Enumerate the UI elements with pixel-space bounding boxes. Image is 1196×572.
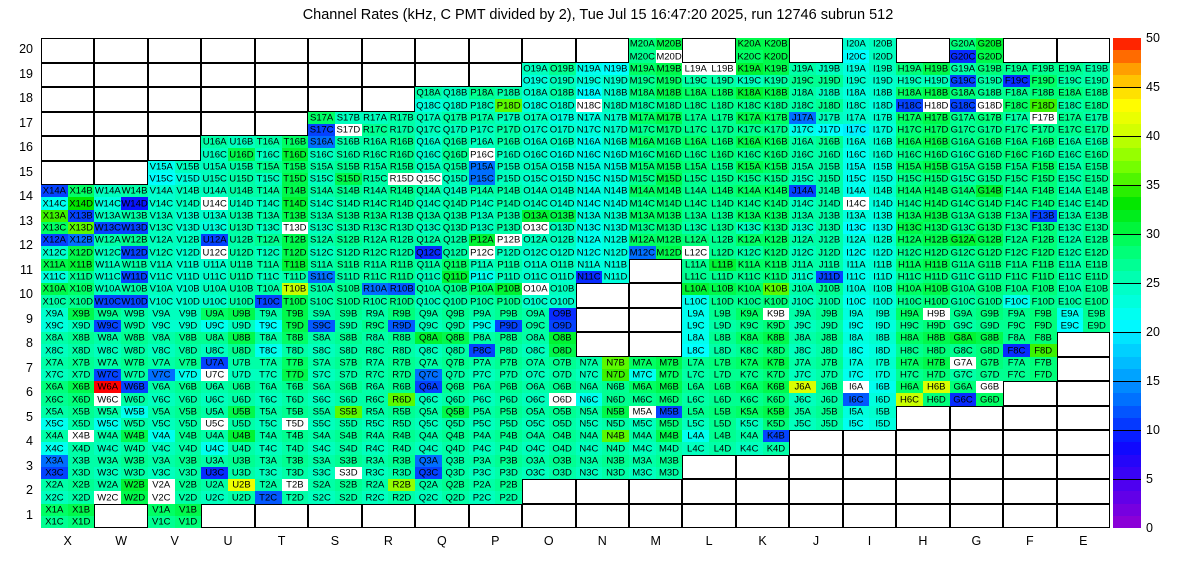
x-axis-tick-labels: XWVUTSRQPONMLKJIHGFE (41, 534, 1110, 558)
heatmap-subcell: I7D (869, 369, 896, 381)
heatmap-subcell: O19B (549, 63, 576, 75)
heatmap-plot-area: M20AM20BM20CM20DK20AK20BK20CK20DI20AI20B… (41, 38, 1110, 528)
heatmap-subcell: P7D (495, 369, 522, 381)
heatmap-subcell: Q2D (442, 491, 469, 503)
heatmap-subcell: L15B (709, 161, 736, 173)
heatmap-cell: S13AS13BS13CS13D (308, 210, 361, 235)
heatmap-cell (201, 38, 254, 63)
heatmap-subcell: E11D (1083, 271, 1110, 283)
heatmap-cell (896, 430, 949, 455)
heatmap-subcell: T7C (255, 369, 282, 381)
heatmap-subcell: X3A (41, 455, 68, 467)
heatmap-subcell: P14C (469, 197, 496, 209)
heatmap-subcell: M6A (629, 381, 656, 393)
heatmap-subcell: K18B (763, 87, 790, 99)
heatmap-subcell: H18D (923, 99, 950, 111)
heatmap-cell: J5AJ5BJ5CJ5D (789, 406, 842, 431)
heatmap-subcell: J6D (816, 393, 843, 405)
heatmap-cell (1057, 430, 1110, 455)
heatmap-subcell: J12D (816, 246, 843, 258)
x-tick-label: N (576, 534, 629, 558)
heatmap-subcell: U13D (228, 222, 255, 234)
heatmap-cell: W7AW7BW7CW7D (94, 357, 147, 382)
heatmap-cell (843, 504, 896, 529)
heatmap-subcell: L15A (682, 161, 709, 173)
heatmap-subcell: W14C (94, 197, 121, 209)
heatmap-cell: M12AM12BM12CM12D (629, 234, 682, 259)
heatmap-subcell: U14D (228, 197, 255, 209)
heatmap-subcell: M12C (629, 246, 656, 258)
heatmap-subcell: O14C (522, 197, 549, 209)
heatmap-subcell: O10B (549, 283, 576, 295)
heatmap-subcell: U5D (228, 418, 255, 430)
heatmap-subcell: K18A (736, 87, 763, 99)
heatmap-cell: J10AJ10BJ10CJ10D (789, 283, 842, 308)
heatmap-subcell: G14C (950, 197, 977, 209)
heatmap-cell: W11AW11BW11CW11D (94, 259, 147, 284)
heatmap-subcell: H8A (896, 332, 923, 344)
heatmap-cell: K13AK13BK13CK13D (736, 210, 789, 235)
heatmap-subcell: K12A (736, 234, 763, 246)
heatmap-subcell: X11D (68, 271, 95, 283)
heatmap-cell: Q13AQ13BQ13CQ13D (415, 210, 468, 235)
heatmap-cell: H17AH17BH17CH17D (896, 112, 949, 137)
heatmap-subcell: N17C (576, 124, 603, 136)
heatmap-cell: K11AK11BK11CK11D (736, 259, 789, 284)
heatmap-subcell: S5C (308, 418, 335, 430)
heatmap-subcell: Q7D (442, 369, 469, 381)
heatmap-subcell: K15D (763, 173, 790, 185)
heatmap-subcell: R14C (362, 197, 389, 209)
heatmap-subcell: X1C (41, 516, 68, 528)
heatmap-subcell: N6C (576, 393, 603, 405)
heatmap-subcell: N14C (576, 197, 603, 209)
heatmap-subcell: Q6C (415, 393, 442, 405)
heatmap-subcell: K13D (763, 222, 790, 234)
heatmap-subcell: G13C (950, 222, 977, 234)
heatmap-subcell: T2D (282, 491, 309, 503)
heatmap-subcell: J9A (789, 308, 816, 320)
heatmap-subcell: K9B (763, 308, 790, 320)
heatmap-subcell: F17D (1030, 124, 1057, 136)
heatmap-subcell: E12C (1057, 246, 1084, 258)
heatmap-cell: H13AH13BH13CH13D (896, 210, 949, 235)
heatmap-subcell: X5D (68, 418, 95, 430)
heatmap-subcell: T6A (255, 381, 282, 393)
heatmap-subcell: X14D (68, 197, 95, 209)
heatmap-cell: E14AE14BE14CE14D (1057, 185, 1110, 210)
heatmap-cell (362, 87, 415, 112)
heatmap-subcell: V12C (148, 246, 175, 258)
heatmap-cell (362, 38, 415, 63)
heatmap-subcell: E17C (1057, 124, 1084, 136)
heatmap-cell (843, 455, 896, 480)
heatmap-subcell: Q6B (442, 381, 469, 393)
heatmap-subcell: N6B (602, 381, 629, 393)
heatmap-subcell: E11C (1057, 271, 1084, 283)
heatmap-subcell: G16B (976, 136, 1003, 148)
heatmap-cell: N6AN6BN6CN6D (576, 381, 629, 406)
heatmap-grid: M20AM20BM20CM20DK20AK20BK20CK20DI20AI20B… (41, 38, 1110, 528)
heatmap-subcell: X8D (68, 344, 95, 356)
heatmap-subcell: Q13A (415, 210, 442, 222)
heatmap-subcell: F7A (1003, 357, 1030, 369)
heatmap-subcell: U8C (201, 344, 228, 356)
heatmap-cell: S16AS16BS16CS16D (308, 136, 361, 161)
heatmap-cell: O10AO10BO10CO10D (522, 283, 575, 308)
heatmap-subcell: W10A (94, 283, 121, 295)
y-tick-label: 11 (0, 263, 33, 277)
heatmap-cell: G10AG10BG10CG10D (950, 283, 1003, 308)
heatmap-subcell: L12A (682, 234, 709, 246)
heatmap-subcell: R17D (388, 124, 415, 136)
heatmap-subcell: P12C (469, 246, 496, 258)
heatmap-subcell: K4B (763, 430, 790, 442)
heatmap-subcell: I9D (869, 320, 896, 332)
heatmap-subcell: Q5B (442, 406, 469, 418)
heatmap-cell: E19AE19BE19CE19D (1057, 63, 1110, 88)
heatmap-subcell: M13A (629, 210, 656, 222)
heatmap-subcell: V10B (175, 283, 202, 295)
heatmap-subcell: L19C (682, 75, 709, 87)
heatmap-subcell: O8B (549, 332, 576, 344)
heatmap-subcell: T9C (255, 320, 282, 332)
heatmap-cell (522, 38, 575, 63)
heatmap-subcell: U12B (228, 234, 255, 246)
heatmap-subcell: I11A (843, 259, 870, 271)
heatmap-subcell: L8C (682, 344, 709, 356)
heatmap-subcell: Q12C (415, 246, 442, 258)
heatmap-cell: N5AN5BN5CN5D (576, 406, 629, 431)
x-tick-label: W (94, 534, 147, 558)
heatmap-subcell: U8D (228, 344, 255, 356)
heatmap-subcell: K10B (763, 283, 790, 295)
heatmap-subcell: S9D (335, 320, 362, 332)
heatmap-subcell: T9B (282, 308, 309, 320)
heatmap-subcell: R7A (362, 357, 389, 369)
heatmap-subcell: V2D (175, 491, 202, 503)
heatmap-subcell: W14B (121, 185, 148, 197)
heatmap-subcell: R11D (388, 271, 415, 283)
heatmap-subcell: J13D (816, 222, 843, 234)
heatmap-subcell: J10C (789, 295, 816, 307)
heatmap-cell: O17AO17BO17CO17D (522, 112, 575, 137)
heatmap-subcell: K6A (736, 381, 763, 393)
heatmap-cell: J14AJ14BJ14CJ14D (789, 185, 842, 210)
heatmap-cell: Q18AQ18BQ18CQ18D (415, 87, 468, 112)
heatmap-subcell: S7C (308, 369, 335, 381)
heatmap-subcell: L14C (682, 197, 709, 209)
heatmap-subcell: L13A (682, 210, 709, 222)
heatmap-subcell: S7D (335, 369, 362, 381)
heatmap-subcell: K16C (736, 148, 763, 160)
heatmap-subcell: O6C (522, 393, 549, 405)
heatmap-subcell: Q7B (442, 357, 469, 369)
heatmap-subcell: M15C (629, 173, 656, 185)
heatmap-subcell: E18B (1083, 87, 1110, 99)
heatmap-subcell: H7C (896, 369, 923, 381)
y-tick-label: 4 (0, 434, 33, 448)
heatmap-cell (148, 136, 201, 161)
heatmap-cell (469, 504, 522, 529)
y-tick-label: 9 (0, 312, 33, 326)
heatmap-subcell: I20A (843, 38, 870, 50)
heatmap-subcell: E18D (1083, 99, 1110, 111)
y-tick-label: 18 (0, 91, 33, 105)
heatmap-subcell: R13C (362, 222, 389, 234)
heatmap-subcell: R8A (362, 332, 389, 344)
heatmap-subcell: R16A (362, 136, 389, 148)
heatmap-subcell: K7D (763, 369, 790, 381)
heatmap-subcell: R12A (362, 234, 389, 246)
heatmap-subcell: S16D (335, 148, 362, 160)
heatmap-subcell: F17A (1003, 112, 1030, 124)
heatmap-subcell: G10A (950, 283, 977, 295)
heatmap-cell (682, 455, 735, 480)
heatmap-subcell: N13B (602, 210, 629, 222)
heatmap-subcell: V2C (148, 491, 175, 503)
heatmap-subcell: R5D (388, 418, 415, 430)
heatmap-cell: R7AR7BR7CR7D (362, 357, 415, 382)
heatmap-subcell: J17D (816, 124, 843, 136)
x-tick-label: O (522, 534, 575, 558)
heatmap-subcell: F7C (1003, 369, 1030, 381)
colorbar-swatch (1113, 234, 1141, 246)
heatmap-subcell: R6A (362, 381, 389, 393)
y-tick-label: 7 (0, 361, 33, 375)
heatmap-cell: E13AE13BE13CE13D (1057, 210, 1110, 235)
heatmap-cell (950, 455, 1003, 480)
heatmap-subcell: T2C (255, 491, 282, 503)
heatmap-cell: I5AI5BI5CI5D (843, 406, 896, 431)
heatmap-cell: L16AL16BL16CL16D (682, 136, 735, 161)
heatmap-cell (629, 332, 682, 357)
heatmap-subcell: V9A (148, 308, 175, 320)
heatmap-subcell: K19D (763, 75, 790, 87)
heatmap-cell: M19AM19BM19CM19D (629, 63, 682, 88)
heatmap-subcell: X11B (68, 259, 95, 271)
colorbar-swatch (1113, 320, 1141, 332)
heatmap-subcell: R6C (362, 393, 389, 405)
heatmap-subcell: L6C (682, 393, 709, 405)
heatmap-cell: I9AI9BI9CI9D (843, 308, 896, 333)
heatmap-subcell: W12B (121, 234, 148, 246)
heatmap-cell: H11AH11BH11CH11D (896, 259, 949, 284)
heatmap-subcell: K8D (763, 344, 790, 356)
heatmap-subcell: L12B (709, 234, 736, 246)
heatmap-subcell: H8B (923, 332, 950, 344)
heatmap-subcell: I16D (869, 148, 896, 160)
heatmap-subcell: G15A (950, 161, 977, 173)
heatmap-subcell: G10C (950, 295, 977, 307)
heatmap-subcell: H18C (896, 99, 923, 111)
heatmap-subcell: V5C (148, 418, 175, 430)
heatmap-subcell: F12A (1003, 234, 1030, 246)
heatmap-cell: U7AU7BU7CU7D (201, 357, 254, 382)
heatmap-cell: J19AJ19BJ19CJ19D (789, 63, 842, 88)
heatmap-cell (255, 504, 308, 529)
heatmap-subcell: N16D (602, 148, 629, 160)
heatmap-subcell: M14A (629, 185, 656, 197)
heatmap-subcell: L9B (709, 308, 736, 320)
heatmap-subcell: G20D (976, 50, 1003, 62)
heatmap-subcell: O13C (522, 222, 549, 234)
heatmap-cell (469, 38, 522, 63)
heatmap-subcell: P10A (469, 283, 496, 295)
heatmap-subcell: I12A (843, 234, 870, 246)
heatmap-cell (308, 63, 361, 88)
heatmap-subcell: Q11C (415, 271, 442, 283)
heatmap-subcell: O8D (549, 344, 576, 356)
heatmap-subcell: K16A (736, 136, 763, 148)
colorbar-swatch (1113, 148, 1141, 160)
heatmap-subcell: P18B (495, 87, 522, 99)
heatmap-subcell: S14A (308, 185, 335, 197)
heatmap-subcell: N3D (602, 467, 629, 479)
heatmap-subcell: T11A (255, 259, 282, 271)
heatmap-subcell: J19C (789, 75, 816, 87)
heatmap-subcell: Q9C (415, 320, 442, 332)
y-tick-label: 17 (0, 116, 33, 130)
heatmap-subcell: R5C (362, 418, 389, 430)
heatmap-subcell: T15A (255, 161, 282, 173)
heatmap-subcell: V9D (175, 320, 202, 332)
heatmap-subcell: W2A (94, 479, 121, 491)
x-tick-label: S (308, 534, 361, 558)
heatmap-subcell: Q10D (442, 295, 469, 307)
heatmap-subcell: H13B (923, 210, 950, 222)
heatmap-subcell: J15D (816, 173, 843, 185)
heatmap-cell: O14AO14BO14CO14D (522, 185, 575, 210)
heatmap-subcell: L13D (709, 222, 736, 234)
x-tick-label: F (1003, 534, 1056, 558)
heatmap-subcell: U5C (201, 418, 228, 430)
heatmap-subcell: T7B (282, 357, 309, 369)
heatmap-cell: T5AT5BT5CT5D (255, 406, 308, 431)
heatmap-subcell: W11D (121, 271, 148, 283)
heatmap-subcell: I8A (843, 332, 870, 344)
heatmap-subcell: O18D (549, 99, 576, 111)
heatmap-subcell: M5A (629, 406, 656, 418)
heatmap-subcell: E19C (1057, 75, 1084, 87)
heatmap-cell (1003, 406, 1056, 431)
heatmap-subcell: L8A (682, 332, 709, 344)
heatmap-subcell: R16B (388, 136, 415, 148)
heatmap-cell (41, 161, 94, 186)
heatmap-subcell: M17C (629, 124, 656, 136)
heatmap-subcell: O5C (522, 418, 549, 430)
heatmap-subcell: S6D (335, 393, 362, 405)
heatmap-subcell: G9B (976, 308, 1003, 320)
heatmap-cell: G8AG8BG8CG8D (950, 332, 1003, 357)
heatmap-subcell: O6B (549, 381, 576, 393)
heatmap-subcell: K19C (736, 75, 763, 87)
heatmap-subcell: S15C (308, 173, 335, 185)
heatmap-subcell: G12A (950, 234, 977, 246)
heatmap-subcell: F19A (1003, 63, 1030, 75)
heatmap-cell: P11AP11BP11CP11D (469, 259, 522, 284)
heatmap-subcell: N3B (602, 455, 629, 467)
heatmap-subcell: G6C (950, 393, 977, 405)
heatmap-subcell: L6D (709, 393, 736, 405)
heatmap-subcell: L17B (709, 112, 736, 124)
heatmap-subcell: I5C (843, 418, 870, 430)
heatmap-cell (1057, 332, 1110, 357)
heatmap-subcell: K4A (736, 430, 763, 442)
heatmap-subcell: L11D (709, 271, 736, 283)
heatmap-subcell: M5C (629, 418, 656, 430)
heatmap-subcell: I10C (843, 295, 870, 307)
heatmap-subcell: P7B (495, 357, 522, 369)
heatmap-cell: P15AP15BP15CP15D (469, 161, 522, 186)
heatmap-subcell: U11C (201, 271, 228, 283)
heatmap-subcell: Q2A (415, 479, 442, 491)
y-tick-label: 16 (0, 140, 33, 154)
heatmap-cell: P6AP6BP6CP6D (469, 381, 522, 406)
heatmap-subcell: X9D (68, 320, 95, 332)
heatmap-subcell: L16C (682, 148, 709, 160)
heatmap-subcell: G7A (950, 357, 977, 369)
heatmap-subcell: I19D (869, 75, 896, 87)
heatmap-subcell: T12D (282, 246, 309, 258)
heatmap-subcell: J18C (789, 99, 816, 111)
heatmap-subcell: K13C (736, 222, 763, 234)
heatmap-subcell: Q9B (442, 308, 469, 320)
heatmap-cell: T2AT2BT2CT2D (255, 479, 308, 504)
heatmap-cell (415, 38, 468, 63)
heatmap-subcell: Q10B (442, 283, 469, 295)
heatmap-subcell: X10A (41, 283, 68, 295)
heatmap-subcell: M4A (629, 430, 656, 442)
heatmap-cell: X12AX12BX12CX12D (41, 234, 94, 259)
heatmap-subcell: S17A (308, 112, 335, 124)
heatmap-cell: I7AI7BI7CI7D (843, 357, 896, 382)
heatmap-subcell: M13B (656, 210, 683, 222)
heatmap-cell: J15AJ15BJ15CJ15D (789, 161, 842, 186)
heatmap-subcell: J12B (816, 234, 843, 246)
heatmap-subcell: X2D (68, 491, 95, 503)
heatmap-subcell: X6B (68, 381, 95, 393)
heatmap-subcell: J19B (816, 63, 843, 75)
page-title: Channel Rates (kHz, C PMT divided by 2),… (0, 7, 1196, 23)
heatmap-subcell: N12D (602, 246, 629, 258)
heatmap-cell (94, 87, 147, 112)
heatmap-subcell: T8C (255, 344, 282, 356)
colorbar-swatch (1113, 112, 1141, 124)
heatmap-cell (148, 38, 201, 63)
heatmap-subcell: N6A (576, 381, 603, 393)
heatmap-subcell: F11B (1030, 259, 1057, 271)
heatmap-subcell: Q16B (442, 136, 469, 148)
heatmap-subcell: P2B (495, 479, 522, 491)
heatmap-subcell: M17D (656, 124, 683, 136)
heatmap-subcell: O13B (549, 210, 576, 222)
heatmap-cell: X10AX10BX10CX10D (41, 283, 94, 308)
heatmap-subcell: O14A (522, 185, 549, 197)
heatmap-subcell: J5A (789, 406, 816, 418)
heatmap-subcell: H16C (896, 148, 923, 160)
heatmap-subcell: T7D (282, 369, 309, 381)
heatmap-subcell: S17D (335, 124, 362, 136)
heatmap-subcell: Q18B (442, 87, 469, 99)
heatmap-subcell: F16D (1030, 148, 1057, 160)
heatmap-cell (736, 455, 789, 480)
heatmap-subcell: E14A (1057, 185, 1084, 197)
heatmap-subcell: R4D (388, 442, 415, 454)
heatmap-subcell: Q10A (415, 283, 442, 295)
heatmap-subcell: E10A (1057, 283, 1084, 295)
heatmap-cell: Q7AQ7BQ7CQ7D (415, 357, 468, 382)
